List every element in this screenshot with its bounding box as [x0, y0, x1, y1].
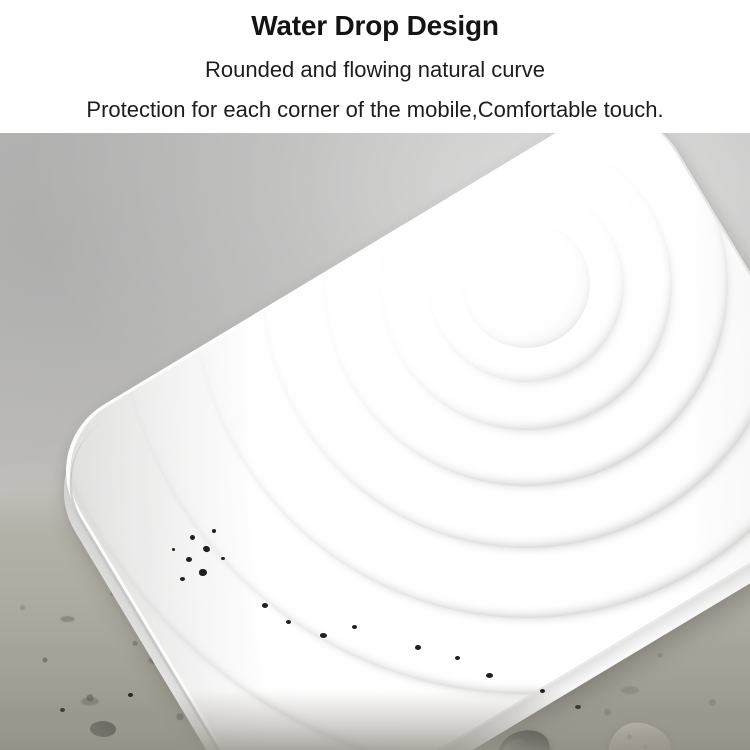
debris-particle	[486, 673, 493, 678]
debris-particle	[190, 535, 195, 540]
debris-particle	[186, 557, 192, 562]
debris-particle	[320, 633, 327, 638]
debris-particle	[415, 645, 421, 650]
headline: Water Drop Design	[0, 10, 750, 42]
debris-particle	[575, 705, 581, 709]
debris-particle	[540, 689, 545, 693]
copy-banner: Water Drop Design Rounded and flowing na…	[0, 0, 750, 133]
debris-particle	[128, 693, 133, 697]
case-body	[37, 133, 750, 750]
debris-particle	[212, 529, 216, 533]
debris-particle	[455, 656, 460, 660]
phone-case	[0, 133, 750, 750]
debris-particle	[286, 620, 291, 624]
debris-particle	[352, 625, 357, 629]
product-photo	[0, 133, 750, 750]
product-feature-image: Water Drop Design Rounded and flowing na…	[0, 0, 750, 750]
subheadline-primary: Rounded and flowing natural curve	[0, 57, 750, 83]
debris-particle	[180, 577, 185, 581]
debris-particle	[60, 708, 65, 712]
debris-particle	[199, 569, 207, 576]
debris-particle	[221, 557, 225, 560]
debris-particle	[262, 603, 268, 608]
subheadline-secondary: Protection for each corner of the mobile…	[0, 97, 750, 123]
debris-particle	[172, 548, 175, 551]
